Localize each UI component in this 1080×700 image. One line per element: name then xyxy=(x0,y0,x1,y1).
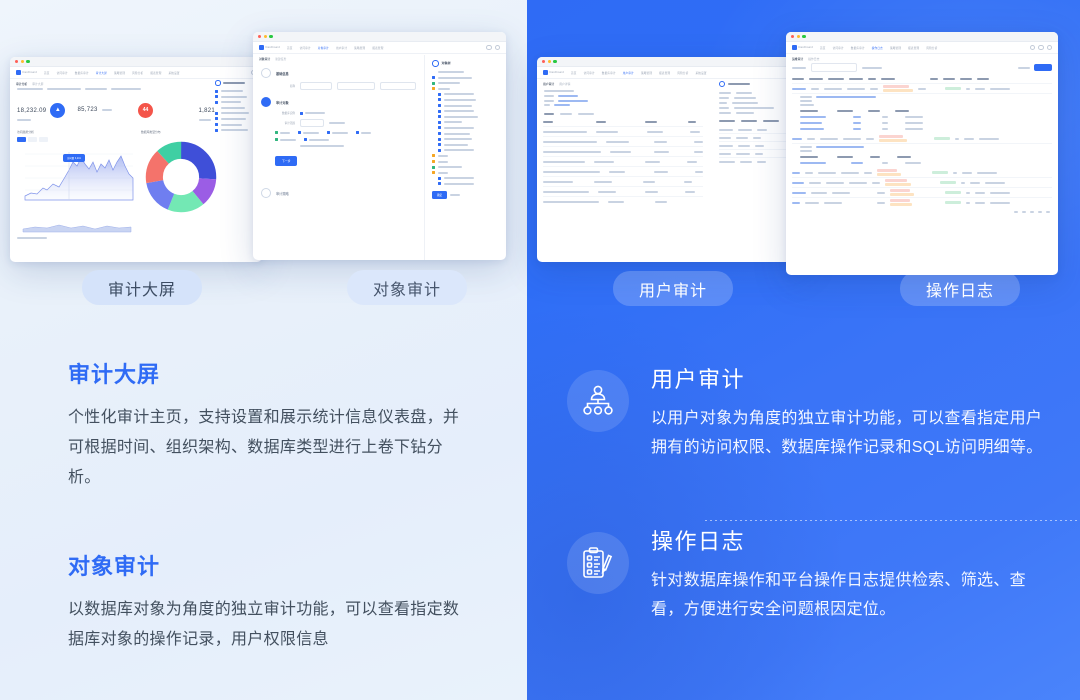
card-titlebar xyxy=(537,57,805,67)
app-logo: Dashboard xyxy=(16,70,37,75)
nav-item-active[interactable]: 对象审计 xyxy=(318,46,329,50)
table-row[interactable] xyxy=(543,147,703,157)
table-row[interactable] xyxy=(792,84,1052,94)
logo-mark-icon xyxy=(16,70,21,75)
status-badge xyxy=(945,201,961,204)
risk-badge xyxy=(877,169,901,177)
nav-item[interactable]: Dashboard xyxy=(23,71,38,74)
nav-item[interactable]: 首页 xyxy=(820,46,826,50)
checkbox-option[interactable] xyxy=(298,131,319,134)
side-panel-title xyxy=(728,83,750,85)
breadcrumb-item[interactable]: 对象审计 xyxy=(259,57,270,61)
status-badge xyxy=(932,171,948,174)
breadcrumb: 运维审计 操作日志 xyxy=(786,54,1058,63)
tree-header: 对象树 xyxy=(432,60,501,67)
detail-row[interactable] xyxy=(800,126,1052,132)
filter-chip[interactable] xyxy=(111,88,141,90)
table-row[interactable] xyxy=(792,168,1052,178)
step-active-icon xyxy=(261,97,271,107)
window-close-dot xyxy=(15,60,18,63)
chart-tooltip: 访问量 3,241 xyxy=(63,154,85,162)
field-label: 审计范围 xyxy=(275,121,295,125)
tree-node[interactable] xyxy=(432,160,501,163)
step-todo-icon xyxy=(261,188,271,198)
page-1[interactable] xyxy=(1022,211,1026,213)
select-input[interactable] xyxy=(337,82,375,90)
status-badge xyxy=(934,137,950,140)
nav-item-active[interactable]: 操作日志 xyxy=(872,46,883,50)
donut-chart[interactable]: 数据库类型分布 xyxy=(141,130,255,233)
tree-node[interactable] xyxy=(432,121,501,124)
tree-node[interactable] xyxy=(432,171,501,174)
side-tab[interactable] xyxy=(741,120,757,122)
tree-title: 对象树 xyxy=(442,61,451,65)
list-item[interactable] xyxy=(215,101,257,104)
tab-pill-user-audit[interactable]: 用户审计 xyxy=(613,271,733,306)
feature-title: 对象审计 xyxy=(68,549,468,581)
seg-month[interactable] xyxy=(39,137,48,142)
feature-title: 操作日志 xyxy=(651,524,1047,556)
nav-item[interactable]: 系统设置 xyxy=(696,71,707,75)
gear-icon xyxy=(215,80,221,86)
nav-item[interactable]: 风险分析 xyxy=(926,46,937,50)
feature-desc: 个性化审计主页，支持设置和展示统计信息仪表盘，并可根据时间、组织架构、数据库类型… xyxy=(68,403,468,493)
permissions-table[interactable] xyxy=(537,117,709,206)
card-navbar[interactable]: Dashboard 首页 访问审计 对象审计 用户审计 策略管理 报表管理 xyxy=(253,42,506,54)
search-icon[interactable] xyxy=(486,45,492,51)
risk-badge xyxy=(885,179,911,187)
breadcrumb-item[interactable]: 审计分析 xyxy=(16,82,27,86)
side-tab[interactable] xyxy=(719,120,735,122)
feature-block-audit-dashboard: 审计大屏 个性化审计主页，支持设置和展示统计信息仪表盘，并可根据时间、组织架构、… xyxy=(68,357,468,493)
step-label: 审计对象 xyxy=(276,100,289,105)
reset-button[interactable] xyxy=(1018,67,1030,69)
tree-node[interactable] xyxy=(432,126,501,129)
nav-item[interactable]: 数据库审计 xyxy=(851,46,865,50)
window-minimize-dot xyxy=(21,60,24,63)
user-hierarchy-icon xyxy=(567,370,629,432)
list-item[interactable] xyxy=(215,112,257,115)
status-badge xyxy=(945,191,961,194)
feature-divider xyxy=(705,520,1080,521)
database-icon xyxy=(432,60,439,67)
window-maximize-dot xyxy=(553,60,556,63)
kpi-card: 44 xyxy=(138,103,195,118)
checkbox-option[interactable] xyxy=(356,131,371,134)
card-navbar[interactable]: Dashboard 首页 访问审计 数据库审计 操作日志 策略管理 报表管理 风… xyxy=(786,42,1058,54)
page-3[interactable] xyxy=(1038,211,1042,213)
nav-item-active[interactable]: 用户审计 xyxy=(623,71,634,75)
feature-block-user-audit: 用户审计 以用户对象为角度的独立审计功能，可以查看指定用户拥有的访问权限、数据库… xyxy=(567,362,1047,462)
text-input[interactable] xyxy=(300,82,332,90)
table-row[interactable] xyxy=(792,134,1052,144)
tree-actions[interactable]: 确定 xyxy=(432,191,501,199)
side-panel-header xyxy=(215,80,257,86)
window-maximize-dot xyxy=(802,35,805,38)
seg-week[interactable] xyxy=(28,137,37,142)
screenshot-card-dashboard[interactable]: Dashboard 首页 访问审计 数据库审计 审计大屏 策略管理 风险分析 报… xyxy=(10,57,262,262)
kpi-label xyxy=(17,119,31,121)
nav-item[interactable]: 首页 xyxy=(571,71,577,75)
tree-node[interactable] xyxy=(432,115,501,118)
kpi-card: 18,232.09 ▲ xyxy=(17,99,74,121)
tree-node[interactable] xyxy=(432,154,501,157)
list-item[interactable] xyxy=(215,123,257,126)
table-row[interactable] xyxy=(792,178,1052,188)
confirm-button[interactable]: 确定 xyxy=(432,191,447,199)
nav-item[interactable]: 首页 xyxy=(44,71,50,75)
nav-item[interactable]: 策略管理 xyxy=(354,46,365,50)
breadcrumb-item[interactable]: 用户审计 xyxy=(543,82,554,86)
tab-pill-audit-dashboard[interactable]: 审计大屏 xyxy=(82,270,202,305)
checkbox-option[interactable] xyxy=(327,131,348,134)
nav-item[interactable]: 访问审计 xyxy=(57,71,68,75)
checkbox-option[interactable] xyxy=(304,138,329,141)
right-feature-list: 用户审计 以用户对象为角度的独立审计功能，可以查看指定用户拥有的访问权限、数据库… xyxy=(567,362,1047,624)
nav-item[interactable]: 数据库审计 xyxy=(602,71,616,75)
tree-node[interactable] xyxy=(432,76,501,79)
chart-range-segmented[interactable] xyxy=(17,137,135,142)
feature-body: 操作日志 针对数据库操作和平台操作日志提供检索、筛选、查看，方便进行安全问题根因… xyxy=(651,524,1047,624)
gear-icon xyxy=(719,81,725,87)
table-row[interactable] xyxy=(543,187,703,197)
page-prev[interactable] xyxy=(1014,211,1018,213)
detail-row[interactable] xyxy=(800,160,1052,166)
kpi-value: 85,723 xyxy=(78,107,98,113)
toolbar-tab[interactable] xyxy=(578,113,594,115)
risk-badge xyxy=(883,85,913,93)
nav-item[interactable]: 报表管理 xyxy=(372,46,383,50)
area-chart[interactable]: 访问趋势分析 xyxy=(17,130,135,233)
table-header-row xyxy=(792,75,1052,84)
bottom-section xyxy=(10,233,262,239)
step-check-icon xyxy=(261,68,271,78)
kpi-badge-alert: 44 xyxy=(138,103,153,118)
window-maximize-dot xyxy=(26,60,29,63)
risk-badge xyxy=(890,189,914,197)
tree-node[interactable] xyxy=(432,104,501,107)
table-header-row xyxy=(543,117,703,127)
nav-item[interactable]: Dashboard xyxy=(266,46,281,49)
risk-badge xyxy=(879,135,907,143)
hint-text xyxy=(300,145,344,147)
table-row[interactable] xyxy=(543,157,703,167)
breadcrumb-item[interactable]: 新建任务 xyxy=(275,57,286,61)
kpi-badge-up-icon: ▲ xyxy=(50,103,65,118)
radio-option[interactable] xyxy=(300,112,325,115)
bell-icon[interactable] xyxy=(1030,45,1036,51)
feature-desc: 针对数据库操作和平台操作日志提供检索、筛选、查看，方便进行安全问题根因定位。 xyxy=(651,566,1047,624)
side-list[interactable] xyxy=(215,90,257,132)
filter-chip[interactable] xyxy=(85,88,107,90)
breadcrumb-item[interactable]: 操作日志 xyxy=(808,57,819,61)
list-item[interactable] xyxy=(215,106,257,109)
avatar[interactable] xyxy=(1047,45,1053,51)
table-row[interactable] xyxy=(543,177,703,187)
row-detail xyxy=(792,94,1052,134)
toolbar-tab-active[interactable] xyxy=(544,113,554,115)
feature-block-object-audit: 对象审计 以数据库对象为角度的独立审计功能，可以查看指定数据库对象的操作记录，用… xyxy=(68,549,468,655)
search-button[interactable] xyxy=(1034,64,1052,71)
tree-node[interactable] xyxy=(432,93,501,96)
window-close-dot xyxy=(542,60,545,63)
pagination[interactable] xyxy=(786,207,1058,217)
seg-today[interactable] xyxy=(17,137,26,142)
list-item[interactable] xyxy=(215,90,257,93)
pill-label: 审计大屏 xyxy=(108,276,176,300)
charts-row: 访问趋势分析 xyxy=(10,130,262,233)
tree-node[interactable] xyxy=(432,87,501,90)
breadcrumb-item[interactable]: 用户详情 xyxy=(559,82,570,86)
kpi-value: 18,232.09 xyxy=(17,108,46,114)
card-titlebar xyxy=(786,32,1058,42)
tree-node[interactable] xyxy=(432,143,501,146)
list-item[interactable] xyxy=(215,95,257,98)
card-navbar[interactable]: Dashboard 首页 访问审计 数据库审计 用户审计 策略管理 报表管理 风… xyxy=(537,67,805,79)
nav-item[interactable]: 报表管理 xyxy=(659,71,670,75)
nav-item[interactable]: 访问审计 xyxy=(300,46,311,50)
card-titlebar xyxy=(253,32,506,42)
filter-chip[interactable] xyxy=(17,88,43,90)
tree-node[interactable] xyxy=(432,132,501,135)
table-row[interactable] xyxy=(792,188,1052,198)
select-input[interactable] xyxy=(380,82,416,90)
screenshot-card-operation-log[interactable]: Dashboard 首页 访问审计 数据库审计 操作日志 策略管理 报表管理 风… xyxy=(786,32,1058,275)
nav-item[interactable]: 访问审计 xyxy=(584,71,595,75)
table-row[interactable] xyxy=(543,197,703,206)
page-root: Dashboard 首页 访问审计 数据库审计 审计大屏 策略管理 风险分析 报… xyxy=(0,0,1080,700)
hint-text xyxy=(329,122,345,124)
tree-node[interactable] xyxy=(432,98,501,101)
status-badge xyxy=(940,181,956,184)
left-feature-list: 审计大屏 个性化审计主页，支持设置和展示统计信息仪表盘，并可根据时间、组织架构、… xyxy=(68,357,468,655)
window-minimize-dot xyxy=(797,35,800,38)
search-row[interactable] xyxy=(786,63,1058,75)
side-panel-title xyxy=(223,82,245,84)
tab-pill-operation-log[interactable]: 操作日志 xyxy=(900,271,1020,306)
step-label: 审计策略 xyxy=(276,191,289,196)
checkbox-option[interactable] xyxy=(275,138,296,141)
search-actions[interactable] xyxy=(1018,64,1052,71)
screenshot-card-object-audit[interactable]: Dashboard 首页 访问审计 对象审计 用户审计 策略管理 报表管理 对象… xyxy=(253,32,506,260)
donut-chart-svg xyxy=(141,137,221,217)
tree-node[interactable] xyxy=(432,82,501,85)
search-input[interactable] xyxy=(811,63,857,72)
table-row[interactable] xyxy=(543,167,703,177)
tree-node[interactable] xyxy=(432,71,501,74)
tree-node[interactable] xyxy=(432,149,501,152)
window-minimize-dot xyxy=(548,60,551,63)
app-logo: Dashboard xyxy=(792,45,813,50)
tree-node[interactable] xyxy=(432,182,501,185)
table-row[interactable] xyxy=(543,137,703,147)
search-label xyxy=(792,67,806,69)
nav-item[interactable]: 风险分析 xyxy=(677,71,688,75)
log-table[interactable] xyxy=(786,75,1058,207)
field-label: 数据库实例 xyxy=(275,111,295,115)
logo-mark-icon xyxy=(259,45,264,50)
nav-item[interactable]: 报表管理 xyxy=(150,71,161,75)
pill-label: 操作日志 xyxy=(926,277,994,301)
navbar-actions[interactable] xyxy=(1030,45,1053,51)
nav-item[interactable]: 报表管理 xyxy=(908,46,919,50)
feature-block-operation-log: 操作日志 针对数据库操作和平台操作日志提供检索、筛选、查看，方便进行安全问题根因… xyxy=(567,524,1047,624)
row-detail xyxy=(792,144,1052,168)
window-maximize-dot xyxy=(269,35,272,38)
nav-item[interactable]: 策略管理 xyxy=(114,71,125,75)
breadcrumb-item[interactable]: 运维审计 xyxy=(792,57,803,61)
breadcrumb-item[interactable]: 审计大屏 xyxy=(32,82,43,86)
step-label: 基础信息 xyxy=(276,71,289,76)
card-titlebar xyxy=(10,57,262,67)
list-item[interactable] xyxy=(215,117,257,120)
brush-minimap[interactable] xyxy=(17,217,135,233)
nav-item[interactable]: Dashboard xyxy=(799,46,814,49)
nav-item[interactable]: 策略管理 xyxy=(641,71,652,75)
nav-item[interactable]: 系统设置 xyxy=(169,71,180,75)
window-close-dot xyxy=(791,35,794,38)
table-row[interactable] xyxy=(543,127,703,137)
tree-node[interactable] xyxy=(432,138,501,141)
nav-item[interactable]: Dashboard xyxy=(550,71,565,74)
side-tab[interactable] xyxy=(763,120,779,122)
select-input[interactable] xyxy=(300,119,324,127)
help-icon[interactable] xyxy=(1038,45,1044,51)
nav-item[interactable]: 首页 xyxy=(287,46,293,50)
risk-badge xyxy=(890,199,912,207)
side-list-panel[interactable] xyxy=(215,80,257,134)
cancel-button[interactable] xyxy=(450,194,460,196)
kpi-label xyxy=(102,109,112,111)
window-close-dot xyxy=(258,35,261,38)
page-2[interactable] xyxy=(1030,211,1034,213)
card-navbar[interactable]: Dashboard 首页 访问审计 数据库审计 审计大屏 策略管理 风险分析 报… xyxy=(10,67,262,79)
tree-node[interactable] xyxy=(432,177,501,180)
page-next[interactable] xyxy=(1046,211,1050,213)
nav-item[interactable]: 风险分析 xyxy=(132,71,143,75)
checkbox-option[interactable] xyxy=(275,131,290,134)
app-logo: Dashboard xyxy=(259,45,280,50)
kpi-value: 1,821 xyxy=(199,108,216,114)
clipboard-checklist-icon xyxy=(567,532,629,594)
list-item[interactable] xyxy=(215,129,257,132)
tab-pill-object-audit[interactable]: 对象审计 xyxy=(347,270,467,305)
nav-item-active[interactable]: 审计大屏 xyxy=(96,71,107,75)
object-tree-panel[interactable]: 对象树 确定 xyxy=(424,55,506,260)
avatar[interactable] xyxy=(495,45,501,51)
kpi-card: 85,723 xyxy=(78,107,135,113)
logo-mark-icon xyxy=(792,45,797,50)
table-row[interactable] xyxy=(792,198,1052,207)
feature-title: 用户审计 xyxy=(651,362,1047,394)
tree-node[interactable] xyxy=(432,166,501,169)
info-title xyxy=(544,90,574,92)
logo-mark-icon xyxy=(543,70,548,75)
bottom-title xyxy=(17,237,47,239)
feature-body: 用户审计 以用户对象为角度的独立审计功能，可以查看指定用户拥有的访问权限、数据库… xyxy=(651,362,1047,462)
next-step-button[interactable]: 下一步 xyxy=(275,156,297,166)
toolbar-tab[interactable] xyxy=(560,113,572,115)
pill-label: 用户审计 xyxy=(639,277,707,301)
filter-chip[interactable] xyxy=(47,88,81,90)
pill-label: 对象审计 xyxy=(373,276,441,300)
tree-node[interactable] xyxy=(432,110,501,113)
filter-select[interactable] xyxy=(862,67,882,69)
nav-item[interactable]: 用户审计 xyxy=(336,46,347,50)
feature-title: 审计大屏 xyxy=(68,357,468,389)
screenshot-card-user-audit[interactable]: Dashboard 首页 访问审计 数据库审计 用户审计 策略管理 报表管理 风… xyxy=(537,57,805,262)
window-minimize-dot xyxy=(264,35,267,38)
nav-item[interactable]: 数据库审计 xyxy=(75,71,89,75)
nav-item[interactable]: 访问审计 xyxy=(833,46,844,50)
navbar-actions[interactable] xyxy=(486,45,500,51)
kpi-label xyxy=(199,119,211,121)
feature-desc: 以用户对象为角度的独立审计功能，可以查看指定用户拥有的访问权限、数据库操作记录和… xyxy=(651,404,1047,462)
feature-desc: 以数据库对象为角度的独立审计功能，可以查看指定数据库对象的操作记录，用户权限信息 xyxy=(68,595,468,655)
nav-item[interactable]: 策略管理 xyxy=(890,46,901,50)
chart-title: 访问趋势分析 xyxy=(17,130,135,134)
status-badge xyxy=(945,87,961,90)
field-label: 名称 xyxy=(275,84,295,88)
app-logo: Dashboard xyxy=(543,70,564,75)
